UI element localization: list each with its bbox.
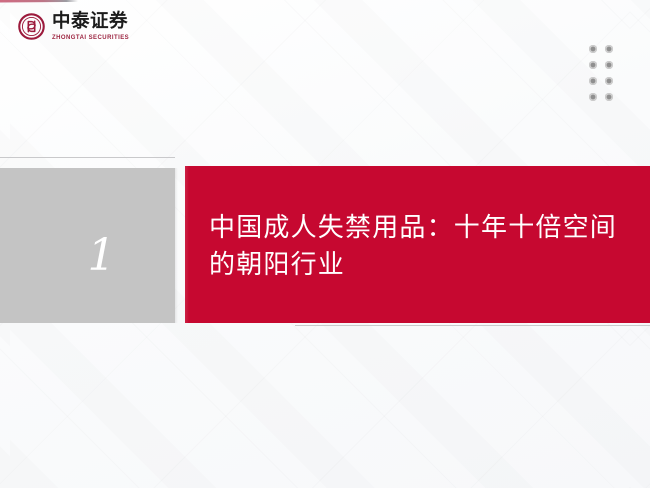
decorative-dot-grid (589, 45, 613, 101)
dot (605, 93, 613, 101)
dot (589, 45, 597, 53)
top-left-accent-line-secondary (0, 2, 64, 3)
brand-logo-text: 中泰证券 ZHONGTAI SECURITIES (52, 13, 129, 41)
slide-title-banner: 中国成人失禁用品：十年十倍空间的朝阳行业 (185, 166, 650, 323)
page-title: 中国成人失禁用品：十年十倍空间的朝阳行业 (185, 210, 650, 284)
dot (589, 77, 597, 85)
dot (605, 45, 613, 53)
section-number: 1 (88, 234, 116, 278)
divider-line-above-section-block (0, 157, 175, 158)
dot (589, 61, 597, 69)
brand-logo: 中泰证券 ZHONGTAI SECURITIES (18, 13, 129, 41)
dot (605, 77, 613, 85)
section-number-block: 1 (0, 168, 175, 323)
dot (589, 93, 597, 101)
divider-line-below-title-banner (295, 325, 650, 326)
zhongtai-circular-emblem-icon (18, 13, 45, 40)
dot (605, 61, 613, 69)
brand-name-english: ZHONGTAI SECURITIES (52, 35, 129, 41)
brand-name-chinese: 中泰证券 (52, 13, 129, 32)
presentation-slide: 中泰证券 ZHONGTAI SECURITIES 1 中国成人失禁用品：十年十倍… (0, 0, 650, 488)
